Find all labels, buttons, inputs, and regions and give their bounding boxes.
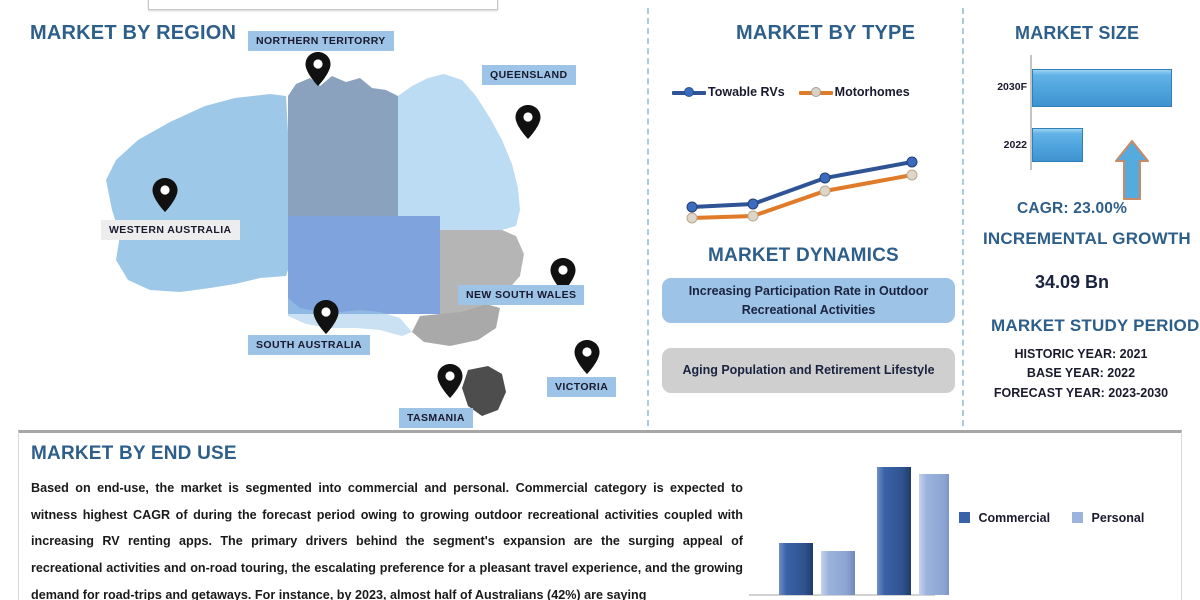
bar-commercial-1 — [779, 543, 813, 595]
map-pin-south-australia[interactable] — [313, 300, 339, 334]
market-by-end-use-title: MARKET BY END USE — [31, 443, 237, 465]
market-by-end-use-body: Based on end-use, the market is segmente… — [31, 475, 743, 600]
legend-item-personal: Personal — [1072, 511, 1144, 525]
market-study-period-lines: HISTORIC YEAR: 2021 BASE YEAR: 2022 FORE… — [962, 345, 1200, 403]
market-by-type-title: MARKET BY TYPE — [736, 22, 915, 45]
map-pin-victoria[interactable] — [574, 340, 600, 374]
map-label-south-australia: SOUTH AUSTRALIA — [248, 335, 370, 355]
map-label-tasmania: TASMANIA — [399, 408, 473, 428]
legend-label-personal: Personal — [1092, 511, 1145, 525]
legend-item-motorhomes: Motorhomes — [799, 85, 910, 99]
incremental-growth-title: INCREMENTAL GROWTH — [983, 229, 1191, 249]
infographic-canvas: MARKET BY REGION NORTHERN TERITOR — [0, 0, 1200, 600]
legend-item-towable-rvs: Towable RVs — [672, 85, 785, 99]
market-study-period-title: MARKET STUDY PERIOD — [991, 316, 1199, 336]
market-dynamics-driver-box: Increasing Participation Rate in Outdoor… — [662, 278, 955, 323]
market-size-bar-2022 — [1032, 128, 1083, 162]
map-label-northern-territory: NORTHERN TERITORRY — [248, 31, 394, 51]
divider-left — [647, 8, 649, 426]
legend-label-commercial: Commercial — [978, 511, 1050, 525]
market-by-type-legend: Towable RVs Motorhomes — [672, 85, 910, 99]
bar-commercial-2 — [877, 467, 911, 595]
legend-label-towable-rvs: Towable RVs — [708, 85, 785, 99]
map-region-south-australia — [288, 216, 440, 314]
legend-swatch-personal — [1072, 512, 1083, 523]
study-period-base-year: BASE YEAR: 2022 — [962, 364, 1200, 383]
bar-personal-2 — [919, 474, 949, 595]
map-pin-western-australia[interactable] — [152, 178, 178, 212]
legend-label-motorhomes: Motorhomes — [835, 85, 910, 99]
map-label-western-australia: WESTERN AUSTRALIA — [101, 220, 240, 240]
market-by-end-use-legend: Commercial Personal — [959, 511, 1144, 525]
market-by-type-chart — [680, 150, 930, 230]
map-region-northern-territory — [288, 96, 398, 216]
map-region-western-australia — [106, 94, 288, 292]
market-by-end-use-chart — [749, 447, 949, 597]
market-dynamics-title: MARKET DYNAMICS — [708, 245, 899, 267]
map-region-queensland — [398, 74, 520, 230]
line-series-motorhomes — [692, 175, 912, 218]
bar-personal-1 — [821, 551, 855, 595]
growth-arrow-up-icon — [1114, 139, 1150, 201]
legend-item-commercial: Commercial — [959, 511, 1050, 525]
market-size-title: MARKET SIZE — [1015, 23, 1139, 44]
legend-marker-towable-rvs — [672, 87, 706, 97]
study-period-forecast-year: FORECAST YEAR: 2023-2030 — [962, 384, 1200, 403]
legend-marker-motorhomes — [799, 87, 833, 97]
map-pin-tasmania[interactable] — [437, 364, 463, 398]
market-size-tick-2022: 2022 — [1004, 139, 1027, 151]
market-size-chart: 2030F 2022 — [975, 55, 1190, 170]
cagr-value: CAGR: 23.00% — [1017, 200, 1127, 218]
map-label-new-south-wales: NEW SOUTH WALES — [458, 285, 584, 305]
market-size-tick-2030f: 2030F — [997, 81, 1027, 93]
incremental-growth-value: 34.09 Bn — [1035, 272, 1109, 293]
map-label-queensland: QUEENSLAND — [482, 65, 576, 85]
top-partial-card — [148, 0, 498, 10]
market-by-end-use-section: MARKET BY END USE Based on end-use, the … — [18, 430, 1182, 600]
study-period-historic-year: HISTORIC YEAR: 2021 — [962, 345, 1200, 364]
market-size-bar-2030f — [1032, 69, 1172, 107]
map-pin-queensland[interactable] — [515, 105, 541, 139]
map-pin-northern-territory[interactable] — [305, 52, 331, 86]
market-dynamics-trend-box: Aging Population and Retirement Lifestyl… — [662, 348, 955, 393]
legend-swatch-commercial — [959, 512, 970, 523]
map-label-victoria: VICTORIA — [547, 377, 616, 397]
